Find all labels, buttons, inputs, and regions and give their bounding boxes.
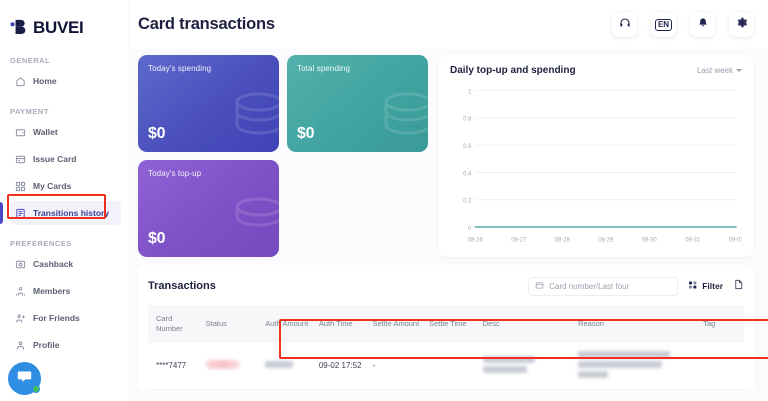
- cell-settle-amount: -: [368, 343, 425, 390]
- stat-card-todays-spending[interactable]: Today's spending $0: [138, 55, 279, 152]
- transactions-table: Card Number Status Auth Amount Auth Time…: [148, 305, 744, 390]
- brand-logo[interactable]: BUVEI: [0, 8, 129, 42]
- sidebar-item-label: Home: [33, 76, 57, 86]
- svg-text:0.4: 0.4: [463, 170, 472, 177]
- topbar: Card transactions EN: [130, 0, 768, 49]
- sidebar-item-label: Wallet: [33, 127, 58, 137]
- svg-text:08-31: 08-31: [685, 236, 700, 243]
- cashback-icon: [15, 259, 26, 270]
- members-icon: [15, 286, 26, 297]
- notifications-button[interactable]: [690, 12, 715, 37]
- svg-text:08-26: 08-26: [468, 236, 483, 243]
- language-badge: EN: [655, 19, 672, 31]
- filter-button[interactable]: Filter: [688, 280, 723, 292]
- card-search-input[interactable]: [549, 282, 671, 291]
- nav-group-general-label: GENERAL: [0, 56, 129, 65]
- column-header-tag[interactable]: Tag: [699, 305, 744, 343]
- support-button[interactable]: [612, 12, 637, 37]
- cell-settle-time: [425, 343, 479, 390]
- transactions-section: Transactions: [138, 265, 754, 390]
- table-body: ****7477 09-02 17:52 -: [148, 343, 744, 390]
- stat-card-total-spending[interactable]: Total spending $0: [287, 55, 428, 152]
- svg-text:0: 0: [468, 225, 472, 232]
- online-status-dot: [32, 385, 40, 393]
- sidebar-item-label: My Cards: [33, 181, 71, 191]
- svg-text:08-29: 08-29: [598, 236, 613, 243]
- sidebar-item-label: Cashback: [33, 259, 73, 269]
- table-row[interactable]: ****7477 09-02 17:52 -: [148, 343, 744, 390]
- coin-stack-icon: [372, 89, 428, 147]
- column-header-settle-time[interactable]: Settle Time: [425, 305, 479, 343]
- svg-text:08-30: 08-30: [642, 236, 657, 243]
- sidebar-item-label: For Friends: [33, 313, 80, 323]
- column-header-auth-amount[interactable]: Auth Amount: [261, 305, 315, 343]
- svg-text:09-01: 09-01: [729, 236, 742, 243]
- stat-card-label: Total spending: [297, 64, 418, 73]
- sidebar-item-wallet[interactable]: Wallet: [10, 120, 121, 144]
- svg-text:0.2: 0.2: [463, 197, 472, 204]
- card-icon: [535, 277, 544, 295]
- sidebar-item-label: Members: [33, 286, 70, 296]
- daily-chart-card: Daily top-up and spending Last week 10.8…: [438, 55, 754, 257]
- status-badge-redacted: [206, 360, 240, 369]
- support-icon: [619, 16, 631, 34]
- column-header-card-number[interactable]: Card Number: [148, 305, 202, 343]
- brand-name: BUVEI: [33, 19, 83, 36]
- reason-redacted: [578, 351, 670, 358]
- card-search-box[interactable]: [528, 277, 678, 296]
- transactions-header: Transactions: [148, 273, 744, 299]
- my-cards-icon: [15, 181, 26, 192]
- sidebar-item-label: Profile: [33, 340, 59, 350]
- cell-reason: [574, 343, 699, 390]
- profile-icon: [15, 340, 26, 351]
- chevron-down-icon: [736, 69, 742, 72]
- transactions-toolbar: Filter: [528, 277, 744, 296]
- stat-card-label: Today's spending: [148, 64, 269, 73]
- chat-bubble-icon: [16, 368, 33, 390]
- sidebar-item-home[interactable]: Home: [10, 69, 121, 93]
- sidebar-item-members[interactable]: Members: [10, 279, 121, 303]
- cell-auth-time: 09-02 17:52: [315, 343, 369, 390]
- topbar-actions: EN: [612, 12, 754, 37]
- svg-text:1: 1: [468, 88, 472, 95]
- transactions-title: Transactions: [148, 280, 216, 292]
- column-header-status[interactable]: Status: [202, 305, 262, 343]
- line-chart: 10.80.60.40.2008-2608-2708-2808-2908-300…: [450, 84, 742, 249]
- chat-widget-button[interactable]: [8, 362, 41, 395]
- sidebar: BUVEI GENERAL Home PAYMENT Wallet: [0, 0, 130, 401]
- settings-gear-icon: [735, 16, 748, 34]
- export-file-icon: [733, 277, 744, 295]
- chart-range-label: Last week: [697, 66, 733, 75]
- column-header-settle-amount[interactable]: Settle Amount: [368, 305, 425, 343]
- stat-cards: Today's spending $0 Total spending $0: [138, 55, 428, 257]
- svg-text:08-28: 08-28: [555, 236, 570, 243]
- reason-redacted: [578, 371, 608, 378]
- main-area: Card transactions EN: [130, 0, 768, 401]
- auth-amount-redacted: [265, 361, 293, 368]
- sidebar-item-profile[interactable]: Profile: [10, 333, 121, 357]
- nav-group-payment-label: PAYMENT: [0, 107, 129, 116]
- column-header-reason[interactable]: Reason: [574, 305, 699, 343]
- svg-text:08-27: 08-27: [511, 236, 526, 243]
- issue-card-icon: [15, 154, 26, 165]
- column-header-desc[interactable]: Desc: [479, 305, 574, 343]
- chart-header: Daily top-up and spending Last week: [450, 65, 742, 76]
- sidebar-item-cashback[interactable]: Cashback: [10, 252, 121, 276]
- chart-range-dropdown[interactable]: Last week: [697, 66, 742, 75]
- sidebar-item-transitions-history[interactable]: Transitions history: [10, 201, 121, 225]
- stat-card-label: Today's top-up: [148, 169, 269, 178]
- desc-redacted: [483, 356, 535, 363]
- overview-row: Today's spending $0 Total spending $0: [138, 55, 754, 257]
- app-root: BUVEI GENERAL Home PAYMENT Wallet: [0, 0, 768, 401]
- sidebar-item-my-cards[interactable]: My Cards: [10, 174, 121, 198]
- desc-redacted: [483, 366, 527, 373]
- wallet-icon: [15, 127, 26, 138]
- chart-title: Daily top-up and spending: [450, 65, 576, 76]
- cell-desc: [479, 343, 574, 390]
- reason-redacted: [578, 361, 662, 368]
- sidebar-item-label: Issue Card: [33, 154, 76, 164]
- cell-card-number: ****7477: [148, 343, 202, 390]
- page-title: Card transactions: [138, 15, 275, 34]
- sidebar-item-issue-card[interactable]: Issue Card: [10, 147, 121, 171]
- filter-label: Filter: [702, 281, 723, 291]
- svg-text:0.8: 0.8: [463, 115, 472, 122]
- notifications-bell-icon: [697, 16, 709, 34]
- cell-tag: [699, 343, 744, 390]
- coin-stack-icon: [223, 89, 279, 147]
- sidebar-item-label: Transitions history: [33, 208, 109, 218]
- table-header-row: Card Number Status Auth Amount Auth Time…: [148, 305, 744, 343]
- stat-card-todays-topup[interactable]: Today's top-up $0: [138, 160, 279, 257]
- for-friends-icon: [15, 313, 26, 324]
- coin-stack-icon: [223, 194, 279, 252]
- filter-icon: [688, 280, 698, 292]
- home-icon: [15, 76, 26, 87]
- sidebar-item-for-friends[interactable]: For Friends: [10, 306, 121, 330]
- settings-button[interactable]: [729, 12, 754, 37]
- export-button[interactable]: [733, 277, 744, 295]
- buvei-logo-mark-icon: [10, 18, 29, 37]
- language-switch-button[interactable]: EN: [651, 12, 676, 37]
- svg-text:0.6: 0.6: [463, 143, 472, 150]
- main-content: Today's spending $0 Total spending $0: [130, 49, 768, 390]
- transactions-history-icon: [15, 208, 26, 219]
- nav-group-preferences-label: PREFERENCES: [0, 239, 129, 248]
- cell-auth-amount: [261, 343, 315, 390]
- column-header-auth-time[interactable]: Auth Time: [315, 305, 369, 343]
- cell-status: [202, 343, 262, 390]
- chart-plot-area: 10.80.60.40.2008-2608-2708-2808-2908-300…: [450, 84, 742, 249]
